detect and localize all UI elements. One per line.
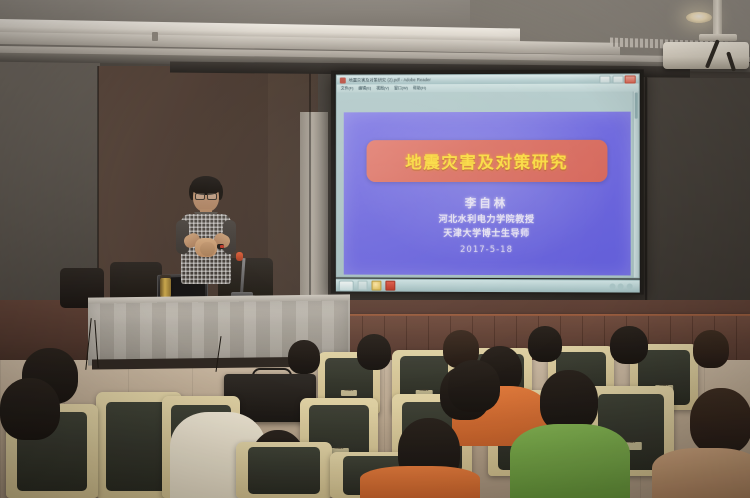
wall-pale-pillar: [300, 112, 328, 312]
document-viewport: 地震灾害及对策研究 李自林 河北水利电力学院教授 天津大学博士生导师 2017-…: [337, 92, 639, 278]
audience-head: [357, 334, 391, 370]
window-title-bar[interactable]: 地震灾害及对策研究 (2).pdf - Adobe Reader: [337, 74, 639, 84]
wristwatch-face: [220, 245, 224, 248]
right-wall-panel: [648, 78, 750, 328]
start-button[interactable]: [339, 280, 354, 291]
document-scrollbar[interactable]: [633, 92, 639, 278]
tray-icon-volume[interactable]: [618, 283, 624, 289]
wall-seam-right: [645, 66, 647, 316]
audience-head: [528, 326, 562, 362]
seat-brand-plate: LAMEX: [341, 390, 357, 396]
audience-head: [288, 340, 320, 374]
slide-date: 2017-5-18: [344, 245, 631, 256]
tray-icon-network[interactable]: [609, 283, 615, 289]
projector-mount-pole: [713, 0, 722, 36]
audience-head: [690, 388, 750, 454]
windows-taskbar[interactable]: [336, 278, 640, 292]
microphone-head-icon: [236, 252, 243, 261]
presenter-affiliation-2: 天津大学博士生导师: [344, 226, 631, 240]
slide-subtitle-block: 李自林 河北水利电力学院教授 天津大学博士生导师 2017-5-18: [344, 195, 631, 255]
audience-head: [693, 330, 729, 368]
system-tray[interactable]: [609, 283, 637, 289]
projection-screen: 地震灾害及对策研究 (2).pdf - Adobe Reader 文件(F) 编…: [331, 69, 644, 294]
window-title-text: 地震灾害及对策研究 (2).pdf - Adobe Reader: [349, 77, 431, 83]
slide-title-band: 地震灾害及对策研究: [367, 140, 608, 183]
presenter-person: [176, 176, 236, 302]
presentation-slide: 地震灾害及对策研究 李自林 河北水利电力学院教授 天津大学博士生导师 2017-…: [344, 112, 631, 276]
ie-icon[interactable]: [372, 281, 382, 291]
menu-item-file[interactable]: 文件(F): [341, 85, 354, 91]
presenter-name: 李自林: [344, 195, 631, 211]
slide-title-text: 地震灾害及对策研究: [405, 149, 568, 173]
audience-head: [0, 378, 60, 440]
audience-shoulders-skin: [652, 448, 750, 498]
wall-seam-mid: [309, 66, 311, 316]
ceiling-downlight-icon: [686, 12, 712, 23]
close-button[interactable]: [625, 75, 636, 83]
presenter-affiliation-1: 河北水利电力学院教授: [344, 212, 631, 225]
maximize-button[interactable]: [612, 75, 623, 83]
seat-cushion: [248, 447, 321, 494]
audience-head: [448, 360, 500, 412]
menu-item-window[interactable]: 窗口(W): [394, 85, 408, 91]
audience-head: [540, 370, 598, 432]
minimize-button[interactable]: [599, 75, 610, 83]
audience-shoulders-orange-front: [360, 466, 480, 498]
audience-shoulders-green: [510, 424, 630, 498]
tray-icon-ime[interactable]: [626, 283, 632, 289]
scrollbar-thumb[interactable]: [635, 93, 638, 119]
thermos-cup: [160, 278, 171, 298]
menu-item-edit[interactable]: 编辑(E): [358, 85, 371, 91]
presenter-hand-overlap: [200, 242, 215, 256]
acrobat-icon: [340, 77, 346, 83]
seat[interactable]: [236, 442, 332, 498]
acrobat-taskbar-icon[interactable]: [385, 281, 395, 291]
seat-brand-text: LAMEX: [341, 390, 357, 396]
adobe-reader-window[interactable]: 地震灾害及对策研究 (2).pdf - Adobe Reader 文件(F) 编…: [336, 73, 640, 278]
window-controls[interactable]: [599, 75, 635, 83]
menu-item-view[interactable]: 视图(V): [376, 85, 389, 91]
ceiling-mount-bracket: [152, 32, 158, 41]
glasses-icon: [195, 193, 217, 198]
menu-item-help[interactable]: 帮助(H): [413, 85, 426, 91]
lecture-hall-scene: 地震灾害及对策研究 (2).pdf - Adobe Reader 文件(F) 编…: [0, 0, 750, 498]
audience-head: [610, 326, 648, 364]
folder-icon[interactable]: [358, 281, 368, 291]
